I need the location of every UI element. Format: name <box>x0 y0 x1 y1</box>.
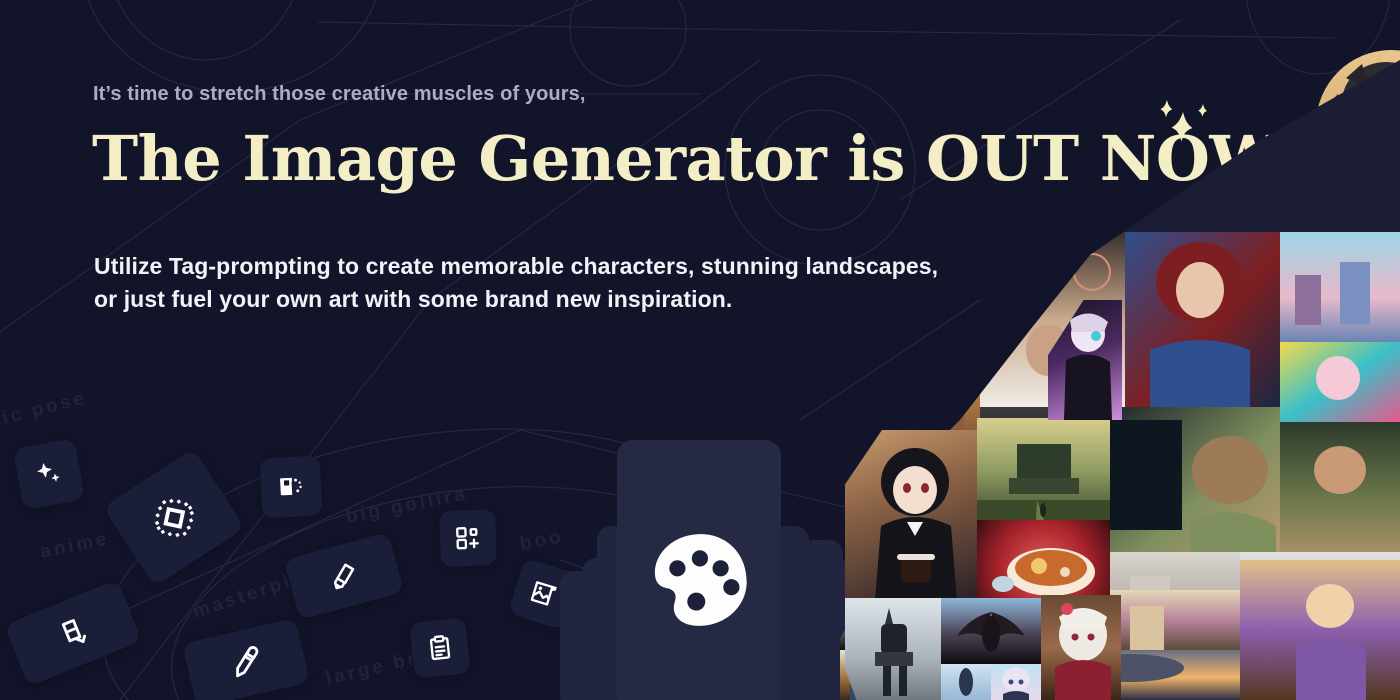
tag-card-sparkles[interactable] <box>13 438 85 510</box>
hero-eyebrow: It’s time to stretch those creative musc… <box>93 83 586 106</box>
sparkles-icon <box>32 457 67 492</box>
tag-card-diamond-grid[interactable] <box>103 448 245 586</box>
hero-subcopy-line1: Utilize Tag-prompting to create memorabl… <box>94 250 938 283</box>
mosaic-tile-ramen[interactable] <box>977 520 1110 600</box>
cyber-girl-art <box>1048 300 1122 420</box>
ghost-word: mic pose <box>0 387 89 434</box>
mosaic-tile-coffee-girl[interactable] <box>845 430 977 600</box>
ramen-art <box>977 520 1110 600</box>
mosaic-tile-sky-figure[interactable] <box>941 664 991 700</box>
eraser-icon <box>52 612 94 654</box>
mosaic-tile-kimono-girl[interactable] <box>1041 595 1121 700</box>
kimono-art <box>1041 595 1121 700</box>
beast-art <box>941 598 1041 664</box>
clipboard-icon <box>425 633 456 664</box>
ghost-word: anime <box>38 528 111 564</box>
palette-icon <box>645 530 753 630</box>
tag-card-eraser[interactable] <box>4 580 142 687</box>
eyedropper-icon <box>227 644 265 682</box>
mosaic-tile-neon-cyber[interactable] <box>1048 300 1122 420</box>
diamond-grid-icon <box>142 486 206 550</box>
sky-figure-art <box>941 664 991 700</box>
tag-card-eyedropper[interactable] <box>182 618 310 700</box>
mecha-art <box>845 598 941 700</box>
photo-tag-icon <box>527 577 562 612</box>
image-mosaic <box>840 0 1400 700</box>
promo-hero-banner: mic pose anime big gollira masterpiece b… <box>0 0 1400 700</box>
image-dots-icon <box>276 472 305 501</box>
mosaic-tile-chibi-girl[interactable] <box>991 664 1041 700</box>
grid-plus-icon <box>454 524 483 553</box>
mosaic-overflow-tiles <box>840 0 1400 700</box>
chibi-art <box>991 664 1041 700</box>
tag-card-grid-plus[interactable] <box>439 509 497 567</box>
tag-card-marker[interactable] <box>284 532 404 620</box>
marker-icon <box>326 558 363 595</box>
hero-subcopy: Utilize Tag-prompting to create memorabl… <box>94 250 938 317</box>
coffee-girl-art <box>845 430 977 600</box>
ghost-word: boo <box>518 526 565 556</box>
deck-front-card[interactable] <box>617 440 781 700</box>
tag-card-image-dots[interactable] <box>259 455 322 518</box>
mosaic-tile-mecha[interactable] <box>845 598 941 700</box>
mosaic-tile-dark-beast[interactable] <box>941 598 1041 664</box>
hero-subcopy-line2: or just fuel your own art with some bran… <box>94 283 938 316</box>
tag-card-clipboard[interactable] <box>409 617 471 679</box>
